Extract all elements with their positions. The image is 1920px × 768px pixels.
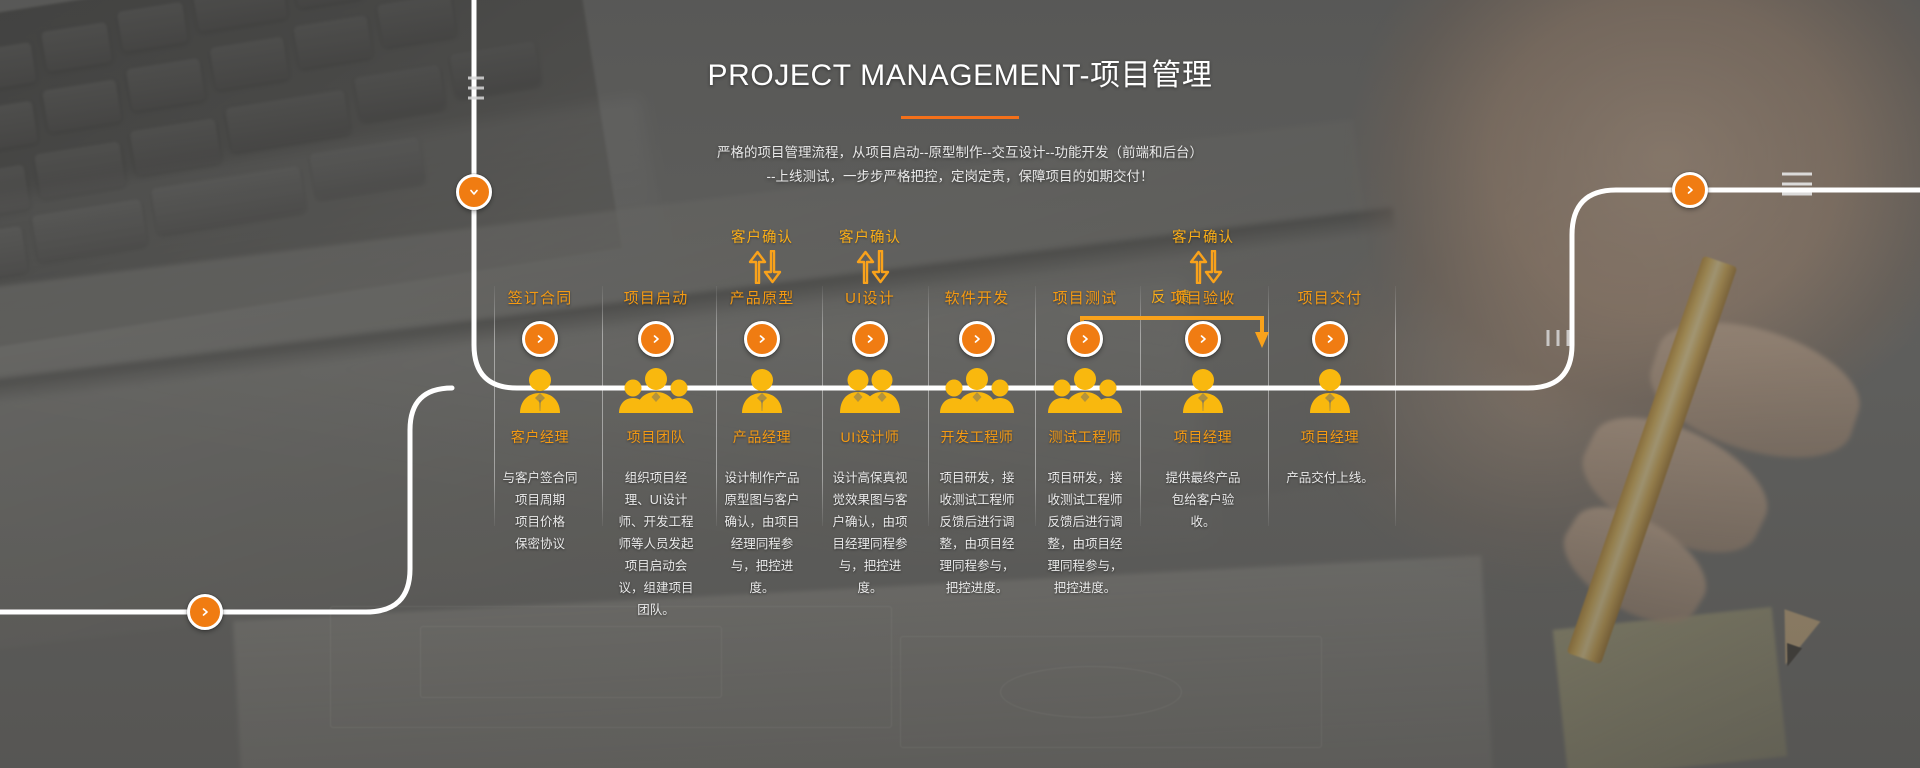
person-single-icon <box>735 366 789 420</box>
step-description: 项目研发，接收测试工程师反馈后进行调整，由项目经理同程参与，把控进度。 <box>1042 467 1128 599</box>
project-management-infographic: PROJECT MANAGEMENT-项目管理 严格的项目管理流程，从项目启动-… <box>0 0 1920 768</box>
timeline-step-6: 项目测试 <box>1085 226 1086 599</box>
step-node[interactable] <box>959 321 995 357</box>
chevron-right-icon <box>864 333 876 345</box>
step-node-slot <box>1255 310 1405 356</box>
step-node[interactable] <box>852 321 888 357</box>
step-description: 与客户签合同项目周期项目价格保密协议 <box>497 467 583 555</box>
person-single-icon <box>513 366 567 420</box>
step-description: 项目研发，接收测试工程师反馈后进行调整，由项目经理同程参与，把控进度。 <box>934 467 1020 599</box>
up-down-arrows-icon <box>1183 250 1223 284</box>
step-description: 产品交付上线。 <box>1272 467 1388 489</box>
chevron-right-icon <box>1197 333 1209 345</box>
person-group-icon <box>1046 366 1124 420</box>
timeline-step-1: 签订合同 客户经理 <box>540 226 541 555</box>
step-description: 设计高保真视觉效果图与客户确认，由项目经理同程参与，把控进度。 <box>827 467 913 599</box>
timeline-step-2: 项目启动 <box>656 226 657 621</box>
header: PROJECT MANAGEMENT-项目管理 严格的项目管理流程，从项目启动-… <box>0 50 1920 189</box>
step-description: 设计制作产品原型图与客户确认，由项目经理同程参与，把控进度。 <box>719 467 805 599</box>
step-node[interactable] <box>1185 321 1221 357</box>
up-down-arrows-icon <box>742 250 782 284</box>
step-node[interactable] <box>1312 321 1348 357</box>
person-pair-icon <box>836 366 904 420</box>
step-node[interactable] <box>1067 321 1103 357</box>
timeline-step-8: 项目交付 项目经理 产 <box>1330 226 1331 489</box>
role-label: 项目经理 <box>1255 427 1405 447</box>
chevron-right-icon <box>1324 333 1336 345</box>
step-label: 项目交付 <box>1255 288 1405 310</box>
page-title: PROJECT MANAGEMENT-项目管理 <box>0 50 1920 94</box>
step-description: 提供最终产品包给客户验收。 <box>1160 467 1246 533</box>
person-single-icon <box>1176 366 1230 420</box>
timeline-step-3: 客户确认 产品原型 <box>762 226 763 599</box>
chevron-right-icon <box>650 333 662 345</box>
chevron-right-icon <box>971 333 983 345</box>
title-underline-rule <box>901 116 1019 119</box>
timeline-step-7: 客户确认 项目验收 <box>1203 226 1204 533</box>
chevron-right-icon <box>756 333 768 345</box>
page-subtitle: 严格的项目管理流程，从项目启动--原型制作--交互设计--功能开发（前端和后台）… <box>0 141 1920 189</box>
person-group-icon <box>938 366 1016 420</box>
step-above-slot <box>1255 226 1405 288</box>
chevron-right-icon <box>1079 333 1091 345</box>
step-node[interactable] <box>522 321 558 357</box>
subtitle-line-2: --上线测试，一步步严格把控，定岗定责，保障项目的如期交付！ <box>0 165 1920 189</box>
timeline-step-5: 软件开发 <box>977 226 978 599</box>
person-single-icon <box>1303 366 1357 420</box>
step-node[interactable] <box>744 321 780 357</box>
chevron-right-icon <box>534 333 546 345</box>
step-node[interactable] <box>638 321 674 357</box>
role-icon-slot <box>1255 364 1405 420</box>
timeline-step-4: 客户确认 UI设计 <box>870 226 871 599</box>
person-group-icon <box>617 366 695 420</box>
subtitle-line-1: 严格的项目管理流程，从项目启动--原型制作--交互设计--功能开发（前端和后台） <box>0 141 1920 165</box>
up-down-arrows-icon <box>850 250 890 284</box>
